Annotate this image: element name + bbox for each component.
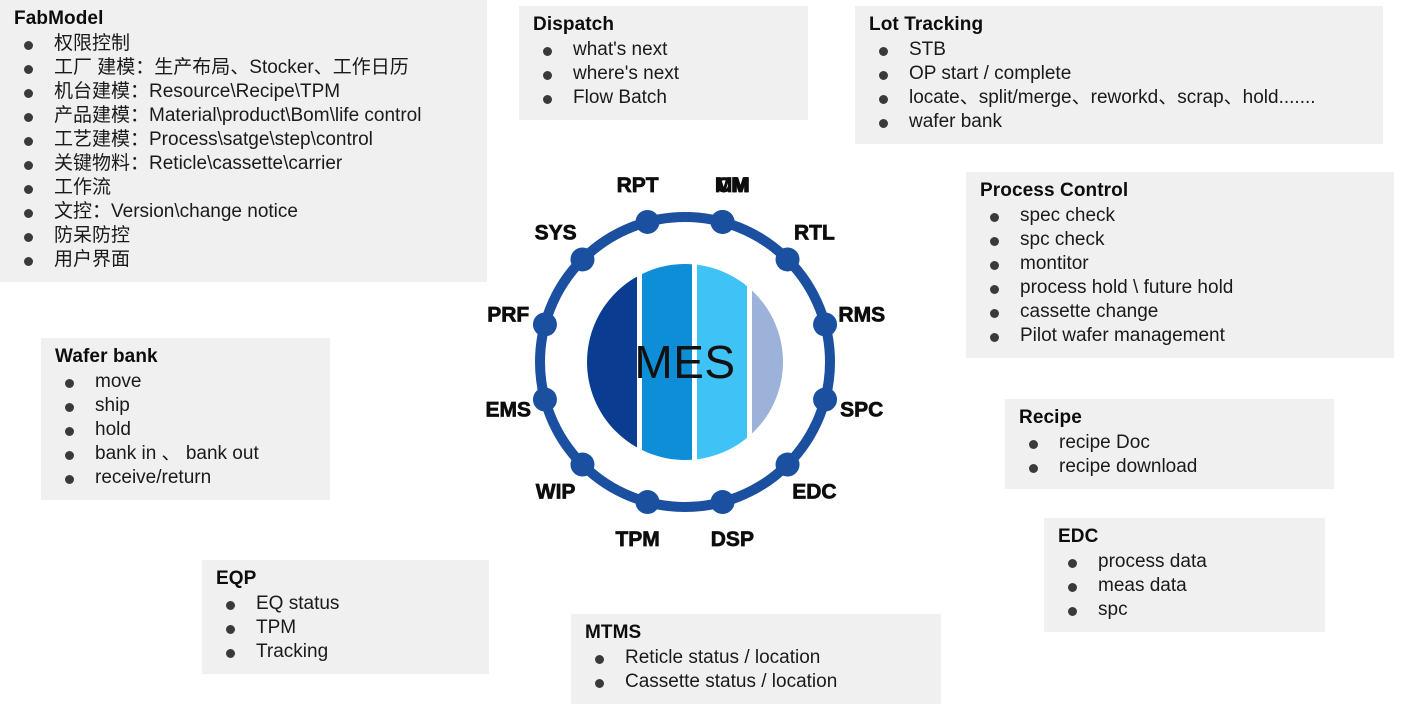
list-item: Tracking xyxy=(216,640,475,664)
panel-title: Dispatch xyxy=(533,12,794,38)
wheel-node-label-edc: EDC xyxy=(792,480,836,503)
list-item-label: process data xyxy=(1098,551,1207,572)
bullet-icon xyxy=(543,95,552,104)
panel-item-list: process data meas data spc xyxy=(1058,550,1311,622)
wheel-node-label-ems: EMS xyxy=(485,398,531,421)
list-item: what's next xyxy=(533,38,794,62)
list-item: montitor xyxy=(980,252,1380,276)
panel-title: EDC xyxy=(1058,524,1311,550)
list-item: receive/return xyxy=(55,466,316,490)
bullet-icon xyxy=(990,309,999,318)
bullet-icon xyxy=(65,451,74,460)
list-item: 防呆防控 xyxy=(14,224,473,248)
bullet-icon xyxy=(879,119,888,128)
list-item-label: STB xyxy=(909,39,946,60)
list-item: wafer bank xyxy=(869,110,1369,134)
wheel-node-label-rtl: RTL xyxy=(794,222,835,245)
list-item: Pilot wafer management xyxy=(980,324,1380,348)
list-item-label: ship xyxy=(95,395,130,416)
panel-dispatch: Dispatch what's next where's next Flow B… xyxy=(519,6,808,120)
list-item: bank in 、 bank out xyxy=(55,442,316,466)
bullet-icon xyxy=(24,41,33,50)
list-item: 权限控制 xyxy=(14,32,473,56)
wheel-node-ems[interactable] xyxy=(533,388,557,412)
list-item: TPM xyxy=(216,616,475,640)
list-item: spc check xyxy=(980,228,1380,252)
panel-fabmodel: FabModel 权限控制 工厂 建模：生产布局、Stocker、工作日历 机台… xyxy=(0,0,487,282)
wheel-node-prf[interactable] xyxy=(533,312,557,336)
bullet-icon xyxy=(65,379,74,388)
list-item-label: 关键物料：Reticle\cassette\carrier xyxy=(54,153,342,174)
list-item-label: Reticle status / location xyxy=(625,647,820,668)
panel-title: Recipe xyxy=(1019,405,1320,431)
bullet-icon xyxy=(24,113,33,122)
list-item: process hold \ future hold xyxy=(980,276,1380,300)
panel-item-list: what's next where's next Flow Batch xyxy=(533,38,794,110)
list-item-label: TPM xyxy=(256,617,296,638)
bullet-icon xyxy=(990,237,999,246)
wheel-node-spc[interactable] xyxy=(813,388,837,412)
list-item-label: 机台建模：Resource\Recipe\TPM xyxy=(54,81,340,102)
panel-title: EQP xyxy=(216,566,475,592)
panel-item-list: move ship hold bank in 、 bank out receiv… xyxy=(55,370,316,490)
panel-item-list: spec check spc check montitor process ho… xyxy=(980,204,1380,348)
bullet-icon xyxy=(24,185,33,194)
bullet-icon xyxy=(65,403,74,412)
panel-title: MTMS xyxy=(585,620,927,646)
bullet-icon xyxy=(879,95,888,104)
bullet-icon xyxy=(990,261,999,270)
panel-process-control: Process Control spec check spc check mon… xyxy=(966,172,1394,358)
list-item-label: Pilot wafer management xyxy=(1020,325,1225,346)
list-item-label: hold xyxy=(95,419,131,440)
panel-title: Wafer bank xyxy=(55,344,316,370)
list-item-label: recipe Doc xyxy=(1059,432,1150,453)
bullet-icon xyxy=(595,655,604,664)
bullet-icon xyxy=(24,257,33,266)
bullet-icon xyxy=(226,601,235,610)
list-item-label: OP start / complete xyxy=(909,63,1071,84)
wheel-node-label-rms: RMS xyxy=(838,304,885,327)
list-item: recipe Doc xyxy=(1019,431,1320,455)
list-item-label: where's next xyxy=(573,63,679,84)
bullet-icon xyxy=(24,161,33,170)
wheel-node-label-wip: WIP xyxy=(536,480,576,503)
panel-item-list: EQ status TPM Tracking xyxy=(216,592,475,664)
bullet-icon xyxy=(1029,464,1038,473)
list-item-label: meas data xyxy=(1098,575,1187,596)
bullet-icon xyxy=(1029,440,1038,449)
panel-wafer-bank: Wafer bank move ship hold bank in 、 bank… xyxy=(41,338,330,500)
bullet-icon xyxy=(65,475,74,484)
list-item: OP start / complete xyxy=(869,62,1369,86)
wheel-node-sys[interactable] xyxy=(570,247,594,271)
panel-eqp: EQP EQ status TPM Tracking xyxy=(202,560,489,674)
list-item-label: wafer bank xyxy=(909,111,1002,132)
panel-item-list: 权限控制 工厂 建模：生产布局、Stocker、工作日历 机台建模：Resour… xyxy=(14,32,473,272)
wheel-node-rpt[interactable] xyxy=(635,210,659,234)
list-item-label: 工作流 xyxy=(54,177,111,198)
wheel-node-edc[interactable] xyxy=(776,453,800,477)
list-item-label: 工艺建模：Process\satge\step\control xyxy=(54,129,373,150)
list-item: Cassette status / location xyxy=(585,670,927,694)
list-item-label: 工厂 建模：生产布局、Stocker、工作日历 xyxy=(54,57,409,78)
list-item-label: EQ status xyxy=(256,593,339,614)
panel-item-list: STB OP start / complete locate、split/mer… xyxy=(869,38,1369,134)
mes-center-label: MES xyxy=(634,336,735,388)
panel-edc: EDC process data meas data spc xyxy=(1044,518,1325,632)
bullet-icon xyxy=(879,71,888,80)
bullet-icon xyxy=(543,71,552,80)
list-item: meas data xyxy=(1058,574,1311,598)
list-item-label: Cassette status / location xyxy=(625,671,837,692)
list-item-label: what's next xyxy=(573,39,667,60)
panel-title: Lot Tracking xyxy=(869,12,1369,38)
wheel-node-label-cm: CM xyxy=(716,174,749,197)
list-item: locate、split/merge、reworkd、scrap、hold...… xyxy=(869,86,1369,110)
list-item: STB xyxy=(869,38,1369,62)
bullet-icon xyxy=(24,137,33,146)
wheel-node-wip[interactable] xyxy=(570,453,594,477)
panel-item-list: Reticle status / location Cassette statu… xyxy=(585,646,927,694)
panel-item-list: recipe Doc recipe download xyxy=(1019,431,1320,479)
list-item-label: montitor xyxy=(1020,253,1089,274)
list-item-label: Flow Batch xyxy=(573,87,667,108)
bullet-icon xyxy=(990,333,999,342)
bullet-icon xyxy=(879,47,888,56)
list-item: recipe download xyxy=(1019,455,1320,479)
list-item: 文控：Version\change notice xyxy=(14,200,473,224)
list-item-label: spc xyxy=(1098,599,1128,620)
wheel-node-label-rpt: RPT xyxy=(617,174,659,197)
bullet-icon xyxy=(24,233,33,242)
core-band-grayblue xyxy=(752,260,792,464)
wheel-node-label-tpm: TPM xyxy=(615,528,659,551)
list-item: ship xyxy=(55,394,316,418)
list-item: 用户界面 xyxy=(14,248,473,272)
list-item-label: recipe download xyxy=(1059,456,1197,477)
list-item-label: locate、split/merge、reworkd、scrap、hold...… xyxy=(909,87,1316,108)
wheel-node-label-prf: PRF xyxy=(487,304,529,327)
list-item: 产品建模：Material\product\Bom\life control xyxy=(14,104,473,128)
core-band-navy xyxy=(585,260,637,464)
list-item: 关键物料：Reticle\cassette\carrier xyxy=(14,152,473,176)
list-item-label: Tracking xyxy=(256,641,328,662)
list-item-label: 产品建模：Material\product\Bom\life control xyxy=(54,105,421,126)
list-item-label: cassette change xyxy=(1020,301,1158,322)
bullet-icon xyxy=(65,427,74,436)
bullet-icon xyxy=(1068,559,1077,568)
list-item: 工艺建模：Process\satge\step\control xyxy=(14,128,473,152)
bullet-icon xyxy=(24,89,33,98)
panel-title: Process Control xyxy=(980,178,1380,204)
list-item: cassette change xyxy=(980,300,1380,324)
wheel-node-label-spc: SPC xyxy=(840,398,883,421)
list-item: 工作流 xyxy=(14,176,473,200)
bullet-icon xyxy=(595,679,604,688)
bullet-icon xyxy=(24,65,33,74)
wheel-node-tpm[interactable] xyxy=(635,490,659,514)
panel-recipe: Recipe recipe Doc recipe download xyxy=(1005,399,1334,489)
list-item: 工厂 建模：生产布局、Stocker、工作日历 xyxy=(14,56,473,80)
list-item-label: spec check xyxy=(1020,205,1115,226)
list-item-label: 用户界面 xyxy=(54,249,130,270)
wheel-node-rtl[interactable] xyxy=(776,247,800,271)
wheel-node-label-sys: SYS xyxy=(535,222,577,245)
list-item: spc xyxy=(1058,598,1311,622)
list-item: EQ status xyxy=(216,592,475,616)
bullet-icon xyxy=(990,213,999,222)
list-item-label: 防呆防控 xyxy=(54,225,130,246)
bullet-icon xyxy=(1068,607,1077,616)
bullet-icon xyxy=(543,47,552,56)
panel-lot-tracking: Lot Tracking STB OP start / complete loc… xyxy=(855,6,1383,144)
mes-wheel-diagram: MES MMRTLRMSSPCEDCDSPTPMWIPEMSPRFSYSRPTC… xyxy=(455,165,915,565)
list-item-label: process hold \ future hold xyxy=(1020,277,1233,298)
list-item: hold xyxy=(55,418,316,442)
list-item: Reticle status / location xyxy=(585,646,927,670)
wheel-node-label-dsp: DSP xyxy=(711,528,754,551)
bullet-icon xyxy=(1068,583,1077,592)
panel-mtms: MTMS Reticle status / location Cassette … xyxy=(571,614,941,704)
list-item-label: move xyxy=(95,371,141,392)
list-item-label: spc check xyxy=(1020,229,1104,250)
list-item: process data xyxy=(1058,550,1311,574)
list-item: 机台建模：Resource\Recipe\TPM xyxy=(14,80,473,104)
list-item-label: receive/return xyxy=(95,467,211,488)
wheel-node-dsp[interactable] xyxy=(711,490,735,514)
list-item-label: 文控：Version\change notice xyxy=(54,201,298,222)
list-item: Flow Batch xyxy=(533,86,794,110)
bullet-icon xyxy=(990,285,999,294)
bullet-icon xyxy=(226,625,235,634)
list-item: spec check xyxy=(980,204,1380,228)
list-item: where's next xyxy=(533,62,794,86)
bullet-icon xyxy=(24,209,33,218)
panel-title: FabModel xyxy=(14,6,473,32)
bullet-icon xyxy=(226,649,235,658)
list-item-label: 权限控制 xyxy=(54,33,130,54)
wheel-node-rms[interactable] xyxy=(813,312,837,336)
list-item: move xyxy=(55,370,316,394)
wheel-node-cm[interactable] xyxy=(711,210,735,234)
list-item-label: bank in 、 bank out xyxy=(95,443,259,464)
